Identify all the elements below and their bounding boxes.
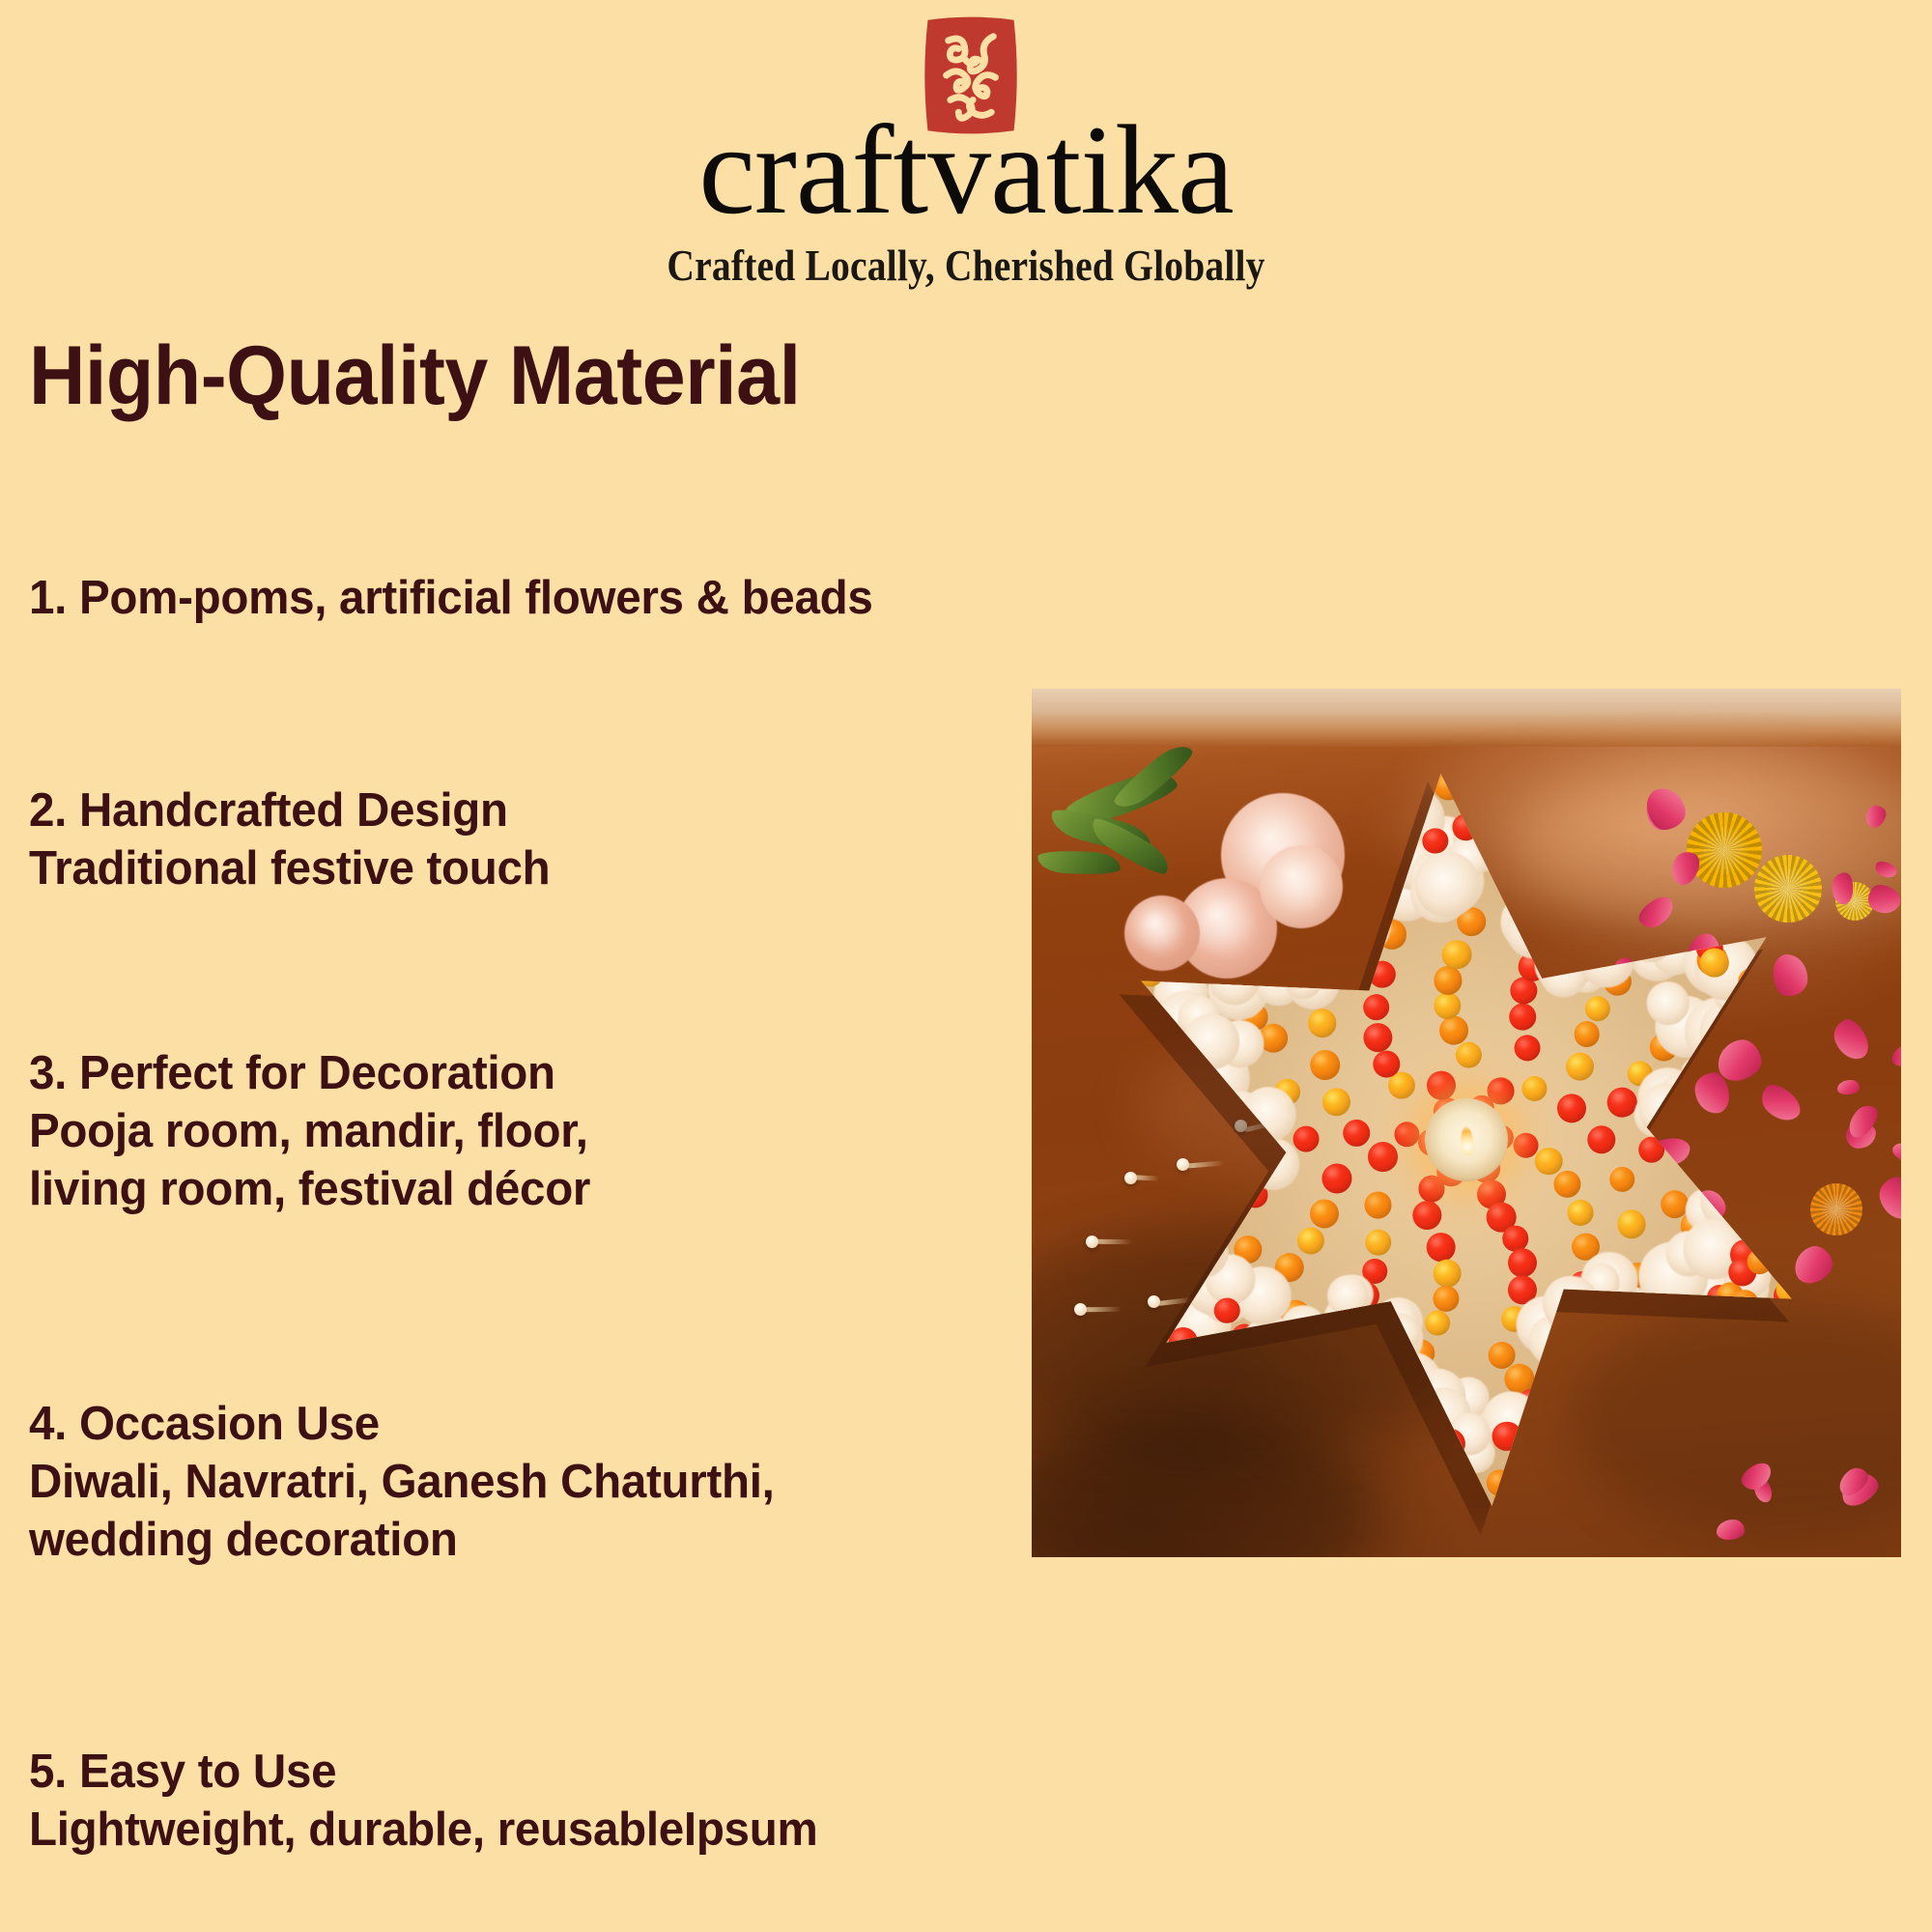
pompom-mid <box>1644 900 1674 930</box>
dried-flower-tuft <box>1743 1030 1786 1073</box>
feature-4-line-1: 4. Occasion Use <box>29 1396 775 1454</box>
pompom-outer <box>1149 953 1176 980</box>
pompom-outer <box>1176 900 1208 933</box>
pompom-mid <box>1564 1315 1591 1342</box>
pompom-outer <box>1719 1321 1749 1351</box>
brand-header: craftvatika Crafted Locally, Cherished G… <box>0 0 1932 309</box>
brand-tagline: Crafted Locally, Cherished Globally <box>601 243 1332 288</box>
pompom-mid <box>1741 1194 1770 1223</box>
pompom-mid <box>1292 941 1321 970</box>
pompom-mid <box>1227 1356 1258 1387</box>
pompom-mid <box>1524 1412 1554 1442</box>
dried-flower-tuft <box>1274 952 1314 991</box>
dried-flower-tuft <box>1535 1414 1600 1479</box>
dried-flower-tuft <box>1155 1193 1226 1264</box>
pompom-mid <box>1160 1179 1189 1207</box>
pompom-outer <box>1258 1404 1287 1433</box>
pompom-mid <box>1307 960 1338 991</box>
pompom-outer <box>1158 1262 1187 1291</box>
pompom-mid <box>1195 1210 1224 1239</box>
pompom-mid <box>1670 1365 1697 1392</box>
pompom-mid <box>1646 868 1674 896</box>
pompom-outer <box>1169 948 1201 980</box>
dried-flower-tuft <box>1335 907 1379 952</box>
pompom-outer <box>1148 1245 1178 1275</box>
pompom-outer <box>1234 1396 1265 1428</box>
pompom-outer <box>1480 821 1507 848</box>
pompom-outer <box>1197 920 1227 950</box>
pompom-mid <box>1670 1112 1697 1139</box>
pompom-mid <box>1130 1141 1159 1170</box>
pompom-outer <box>1353 819 1383 849</box>
pompom-outer <box>1135 1084 1163 1112</box>
pompom-outer <box>1688 859 1719 890</box>
product-photo <box>1032 689 1901 1557</box>
pompom-mid <box>1208 1157 1240 1189</box>
pompom-outer <box>1161 1104 1193 1136</box>
pompom-mid <box>1278 917 1310 949</box>
feature-5-line-2: Lightweight, durable, reusableIpsum <box>29 1802 817 1860</box>
pompom-outer <box>1328 832 1359 863</box>
pompom-mid <box>1734 1034 1762 1062</box>
diya-flame-icon <box>1460 1126 1474 1156</box>
pompom-mid <box>1604 1411 1632 1439</box>
pompom-mid <box>1500 834 1528 862</box>
pearl-bead <box>1074 1303 1087 1316</box>
feature-5-line-1: 5. Easy to Use <box>29 1744 817 1802</box>
dried-flower-tuft <box>1536 1378 1599 1441</box>
pompom-outer <box>1652 874 1680 902</box>
pompom-mid <box>1266 862 1296 892</box>
pompom-mid <box>1271 892 1298 919</box>
pompom-outer <box>1548 818 1576 845</box>
pompom-mid <box>1592 1358 1620 1386</box>
pompom-outer <box>1695 895 1723 923</box>
pompom-outer <box>1373 1461 1405 1492</box>
pompom-mid <box>1206 915 1236 946</box>
pompom-mid <box>1748 1114 1776 1142</box>
pompom-rangoli <box>1074 749 1858 1532</box>
pompom-outer <box>1155 1210 1185 1240</box>
feature-item-2: 2. Handcrafted Design Traditional festiv… <box>29 782 566 898</box>
pompom-outer <box>1244 912 1276 944</box>
dried-flower-tuft <box>1530 1399 1578 1447</box>
pompom-outer <box>1237 1386 1265 1414</box>
pompom-outer <box>1203 932 1230 959</box>
pompom-mid <box>1774 1151 1804 1180</box>
pompom-mid <box>1577 1333 1609 1365</box>
pompom-mid <box>1157 1098 1185 1126</box>
feature-4-line-3: wedding decoration <box>29 1512 775 1570</box>
pompom-outer <box>1374 820 1404 850</box>
pompom-mid <box>1536 925 1563 952</box>
dried-flower-tuft <box>1734 1153 1804 1224</box>
pompom-outer <box>1590 1444 1621 1475</box>
pompom-outer <box>1688 895 1718 924</box>
pompom-mid <box>1212 948 1244 980</box>
dried-flower-tuft <box>1195 1151 1251 1207</box>
pompom-outer <box>1362 1454 1391 1483</box>
dried-flower-tuft <box>1538 914 1578 954</box>
dried-flower-tuft <box>1284 941 1324 981</box>
dried-flower-tuft <box>1649 882 1718 951</box>
pompom-mid <box>1497 806 1527 836</box>
dried-flower-tuft <box>1683 1127 1740 1184</box>
pompom-mid <box>1528 1440 1555 1467</box>
pompom-outer <box>1737 1188 1768 1219</box>
pompom-outer <box>1725 898 1755 928</box>
pompom-mid <box>1348 1348 1375 1375</box>
pompom-outer <box>1154 1072 1182 1100</box>
pompom-outer <box>1754 1054 1787 1087</box>
dried-flower-tuft <box>1646 867 1714 934</box>
pompom-outer <box>1680 1354 1707 1381</box>
pompom-outer <box>1227 884 1257 914</box>
pompom-outer <box>1682 1352 1714 1384</box>
pompom-outer <box>1663 1348 1690 1375</box>
pompom-outer <box>1138 1225 1167 1254</box>
pompom-outer <box>1395 1454 1425 1484</box>
pompom-mid <box>1366 1436 1396 1466</box>
pompom-outer <box>1217 867 1250 900</box>
brand-wordmark: craftvatika <box>541 106 1391 234</box>
pompom-outer <box>1133 1264 1164 1294</box>
pompom-mid <box>1519 891 1548 920</box>
dried-flower-tuft <box>1198 1156 1253 1211</box>
pompom-outer <box>1169 907 1197 935</box>
pompom-outer <box>1344 826 1374 856</box>
pompom-mid <box>1694 1132 1726 1164</box>
pompom-mid <box>1357 1378 1388 1409</box>
pompom-mid <box>1349 876 1377 904</box>
pompom-outer <box>1335 789 1364 818</box>
pompom-mid <box>1291 1406 1321 1436</box>
dried-flower-tuft <box>1554 898 1607 952</box>
pompom-mid <box>1143 1220 1174 1251</box>
pompom-outer <box>1754 1051 1783 1080</box>
pompom-outer <box>1553 1426 1586 1459</box>
pompom-outer <box>1361 1444 1391 1474</box>
pompom-outer <box>1210 1354 1239 1383</box>
pompom-outer <box>1767 1044 1800 1077</box>
feature-2-line-2: Traditional festive touch <box>29 840 550 898</box>
pompom-outer <box>1102 1080 1129 1107</box>
pompom-outer <box>1464 788 1492 815</box>
pompom-mid <box>1576 828 1604 856</box>
pompom-outer <box>1394 1429 1421 1456</box>
dried-flower-tuft <box>1721 988 1791 1058</box>
pompom-outer <box>1650 905 1683 938</box>
pompom-mid <box>1745 992 1776 1024</box>
pompom-outer <box>1344 857 1371 884</box>
wordmark-craft: craft <box>698 99 927 241</box>
brand-logo-lockup: craftvatika Crafted Locally, Cherished G… <box>541 0 1391 232</box>
feature-item-3: 3. Perfect for Decoration Pooja room, ma… <box>29 1045 608 1218</box>
pompom-outer <box>1672 925 1700 953</box>
pompom-mid <box>1337 823 1368 854</box>
pearl-bead <box>1086 1236 1098 1248</box>
pompom-outer <box>1250 1419 1279 1448</box>
pompom-mid <box>1719 1081 1747 1109</box>
feature-4-line-2: Diwali, Navratri, Ganesh Chaturthi, <box>29 1454 775 1512</box>
page-title: High-Quality Material <box>29 328 801 424</box>
feature-3-line-2: Pooja room, mandir, floor, <box>29 1103 590 1161</box>
pompom-outer <box>1748 1183 1776 1211</box>
feature-1-line-1: 1. Pom-poms, artificial flowers & beads <box>29 570 872 628</box>
pompom-outer <box>1757 952 1787 981</box>
pompom-outer <box>1548 812 1577 841</box>
pompom-mid <box>1364 1408 1394 1438</box>
pompom-mid <box>1771 1071 1799 1099</box>
dried-flower-tuft <box>1735 982 1791 1038</box>
feature-item-1: 1. Pom-poms, artificial flowers & beads <box>29 570 899 628</box>
pompom-outer <box>1123 1220 1155 1252</box>
pompom-outer <box>1789 1180 1821 1212</box>
product-photo-scene <box>1032 689 1901 1557</box>
pompom-mid <box>1757 1231 1785 1259</box>
pompom-outer <box>1134 1076 1167 1109</box>
pompom-mid <box>1599 1382 1629 1412</box>
pompom-outer <box>1379 819 1407 847</box>
pompom-outer <box>1543 1469 1570 1496</box>
pompom-mid <box>1719 1160 1749 1190</box>
pompom-outer <box>1365 831 1396 862</box>
pompom-mid <box>1288 1341 1317 1370</box>
feature-3-line-1: 3. Perfect for Decoration <box>29 1045 590 1103</box>
dried-flower-tuft <box>1677 1125 1725 1174</box>
dried-flower-tuft <box>1663 900 1716 952</box>
pompom-outer <box>1232 1398 1264 1430</box>
dried-flower-tuft <box>1207 937 1259 988</box>
pompom-outer <box>1542 1425 1570 1453</box>
feature-3-line-3: living room, festival décor <box>29 1161 590 1219</box>
pompom-mid <box>1592 925 1621 954</box>
pompom-outer <box>1361 1445 1388 1472</box>
pompom-mid <box>1576 856 1607 888</box>
pompom-mid <box>1506 860 1537 891</box>
pompom-outer <box>1548 796 1580 828</box>
pompom-outer <box>1247 1381 1279 1413</box>
dried-flower-tuft <box>1577 1311 1621 1355</box>
pompom-mid <box>1293 1376 1321 1404</box>
dried-flower-tuft <box>1682 1089 1732 1139</box>
pompom-mid <box>1137 1062 1164 1089</box>
feature-item-5: 5. Easy to Use Lightweight, durable, reu… <box>29 1744 842 1860</box>
rose-petal <box>1717 1519 1746 1539</box>
dried-flower-tuft <box>1537 1335 1601 1399</box>
pompom-outer <box>1702 905 1731 934</box>
feature-2-line-1: 2. Handcrafted Design <box>29 782 550 840</box>
pompom-outer <box>1124 1046 1151 1073</box>
feature-item-4: 4. Occasion Use Diwali, Navratri, Ganesh… <box>29 1396 797 1569</box>
wordmark-vatika: vatika <box>927 99 1234 241</box>
pompom-mid <box>1581 889 1612 920</box>
pompom-outer <box>1226 913 1253 940</box>
pompom-outer <box>1741 1003 1772 1034</box>
dried-flower-tuft <box>1323 921 1373 970</box>
pompom-mid <box>1664 1334 1692 1362</box>
pompom-mid <box>1181 1130 1211 1160</box>
pompom-outer <box>1328 786 1361 819</box>
pompom-outer <box>1745 1200 1773 1228</box>
pompom-outer <box>1107 1201 1137 1231</box>
pompom-outer <box>1756 942 1786 972</box>
pompom-mid <box>1342 852 1369 879</box>
pompom-outer <box>1386 1413 1418 1445</box>
